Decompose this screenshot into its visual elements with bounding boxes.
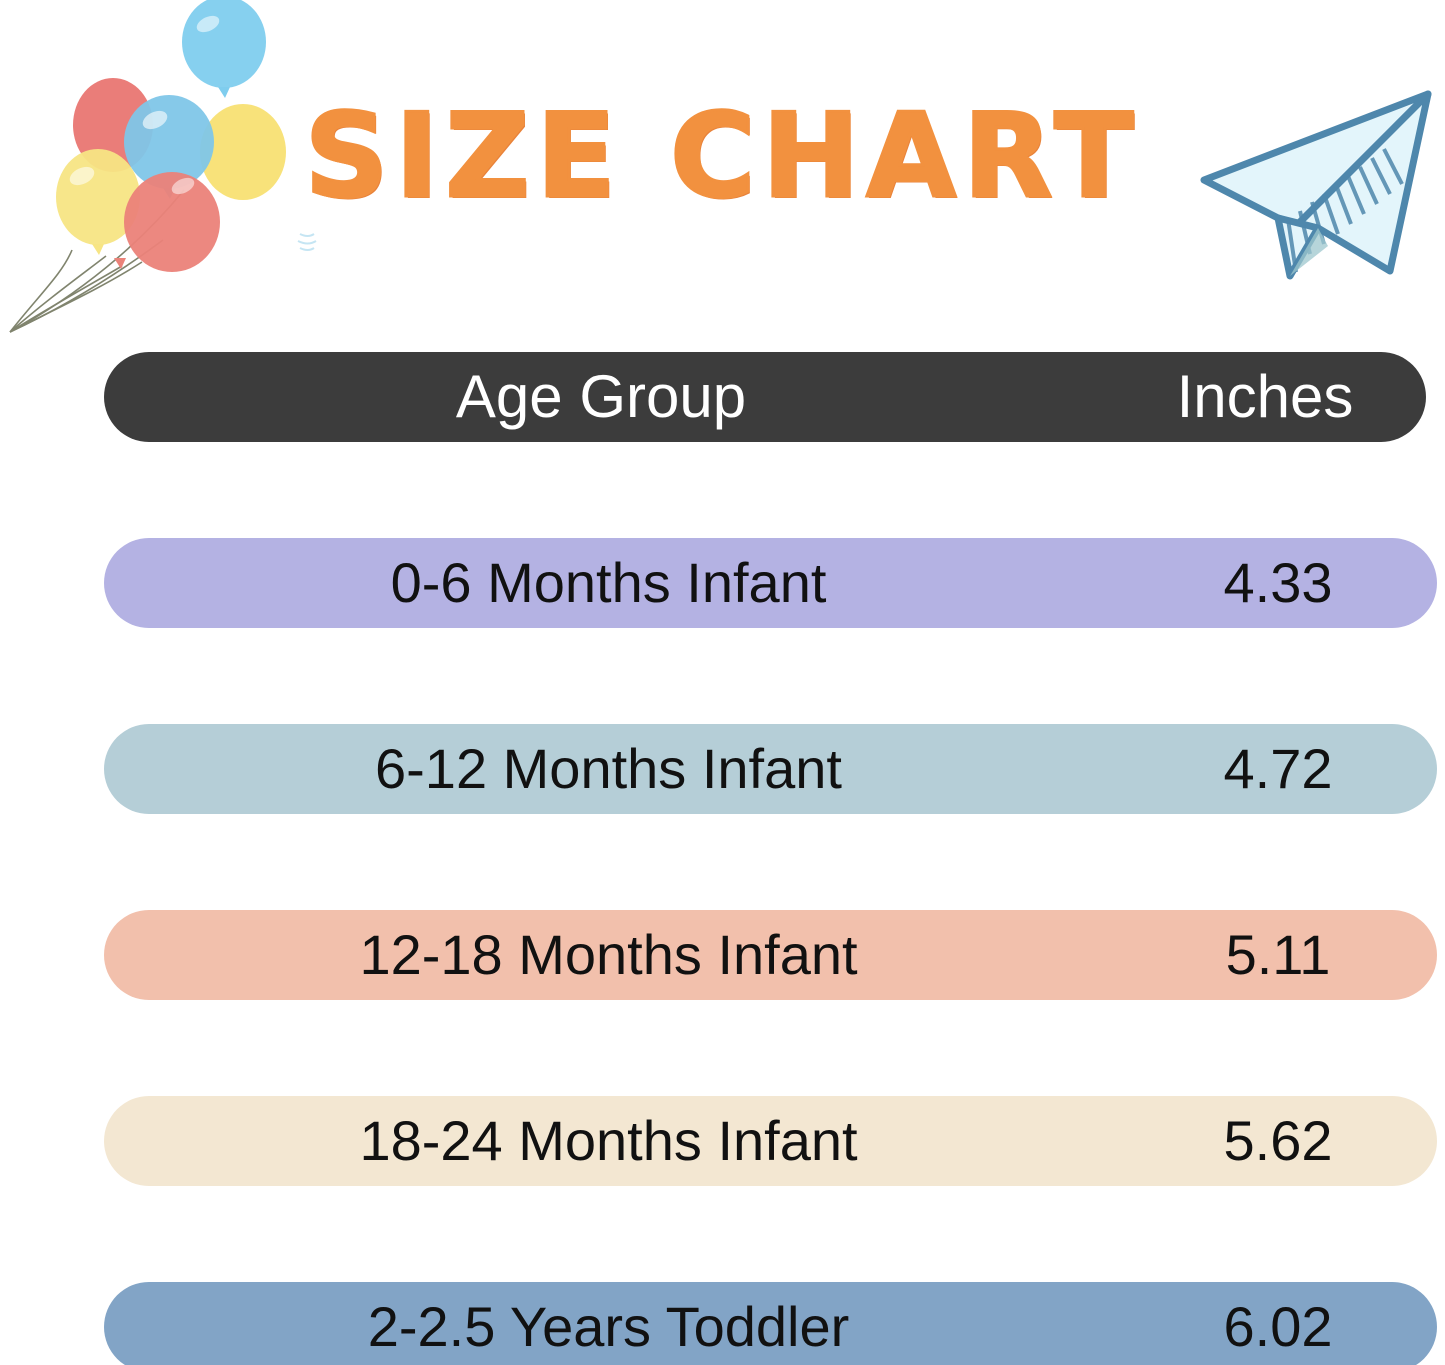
paper-airplane-icon [1178, 68, 1445, 300]
cell-inches: 5.11 [1119, 927, 1437, 983]
table-header-row: Age Group Inches [104, 352, 1426, 442]
cell-age-group: 12-18 Months Infant [104, 927, 1119, 983]
size-chart-page: SIZE CHART Age Grou [0, 0, 1445, 1365]
column-header-age-group: Age Group [104, 367, 1104, 427]
cell-age-group: 2-2.5 Years Toddler [104, 1299, 1119, 1355]
cell-age-group: 18-24 Months Infant [104, 1113, 1119, 1169]
cell-inches: 4.72 [1119, 741, 1437, 797]
cell-inches: 5.62 [1119, 1113, 1437, 1169]
table-row: 18-24 Months Infant 5.62 [104, 1096, 1437, 1186]
table-row: 6-12 Months Infant 4.72 [104, 724, 1437, 814]
column-header-inches: Inches [1104, 367, 1426, 427]
table-row: 12-18 Months Infant 5.11 [104, 910, 1437, 1000]
table-row: 0-6 Months Infant 4.33 [104, 538, 1437, 628]
cell-inches: 6.02 [1119, 1299, 1437, 1355]
cell-inches: 4.33 [1119, 555, 1437, 611]
page-banner: SIZE CHART [0, 0, 1445, 340]
cell-age-group: 6-12 Months Infant [104, 741, 1119, 797]
table-row: 2-2.5 Years Toddler 6.02 [104, 1282, 1437, 1365]
size-chart-table: Age Group Inches 0-6 Months Infant 4.33 … [0, 340, 1445, 1365]
cell-age-group: 0-6 Months Infant [104, 555, 1119, 611]
